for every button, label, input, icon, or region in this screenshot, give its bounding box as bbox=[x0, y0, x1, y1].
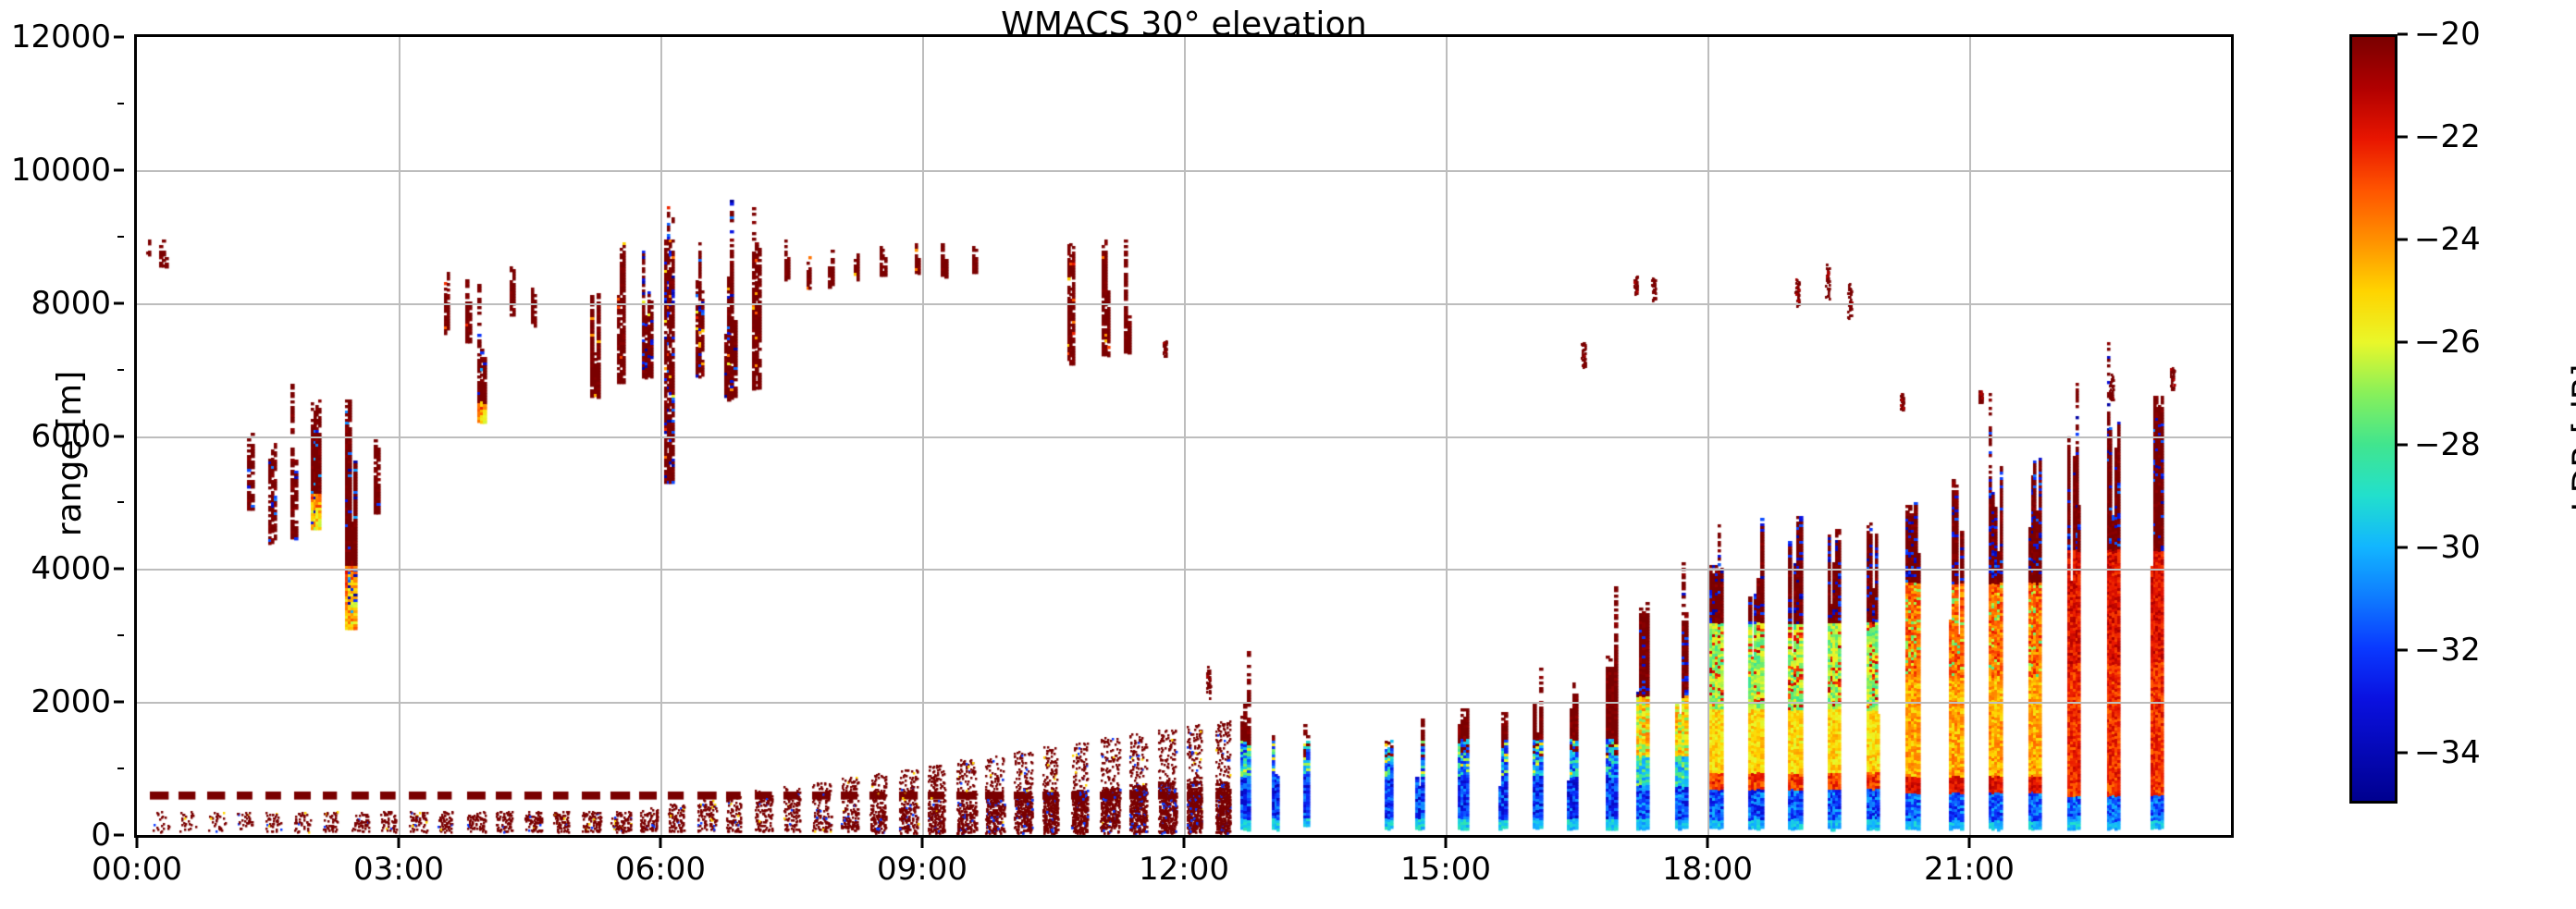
y-tick-minor bbox=[117, 768, 124, 769]
x-tick-label: 00:00 bbox=[92, 851, 182, 888]
colorbar-tick-mark bbox=[2397, 648, 2408, 651]
y-tick-mark bbox=[114, 301, 124, 304]
colorbar-tick-label: −30 bbox=[2414, 529, 2481, 566]
x-tick-label: 06:00 bbox=[615, 851, 706, 888]
colorbar-tick-label: −34 bbox=[2414, 734, 2481, 771]
y-axis-title: range [m] bbox=[51, 371, 89, 536]
colorbar-tick-mark bbox=[2397, 443, 2408, 446]
y-tick-label: 2000 bbox=[31, 683, 111, 720]
x-tick-label: 18:00 bbox=[1662, 851, 1753, 888]
heatmap-canvas bbox=[137, 37, 2231, 835]
colorbar-tick-mark bbox=[2397, 546, 2408, 548]
y-tick-label: 10000 bbox=[11, 152, 111, 189]
colorbar-gradient-fill bbox=[2352, 37, 2395, 801]
y-tick-label: 8000 bbox=[31, 285, 111, 322]
y-tick-mark bbox=[114, 36, 124, 39]
y-tick-mark bbox=[114, 701, 124, 704]
x-tick-mark bbox=[921, 838, 924, 848]
y-tick-minor bbox=[117, 103, 124, 104]
x-tick-label: 15:00 bbox=[1400, 851, 1491, 888]
colorbar-tick-label: −32 bbox=[2414, 632, 2481, 669]
colorbar-tick-mark bbox=[2397, 238, 2408, 240]
colorbar-title: LDR [dB] bbox=[2566, 364, 2576, 512]
x-axis-labels: 00:0003:0006:0009:0012:0015:0018:0021:00 bbox=[134, 838, 2234, 903]
y-tick-minor bbox=[117, 634, 124, 636]
y-tick-label: 12000 bbox=[11, 18, 111, 55]
colorbar-tick-label: −22 bbox=[2414, 118, 2481, 155]
colorbar-tick-label: −20 bbox=[2414, 16, 2481, 53]
colorbar-tick-mark bbox=[2397, 751, 2408, 754]
y-tick-mark bbox=[114, 568, 124, 571]
colorbar-tick-mark bbox=[2397, 340, 2408, 343]
colorbar-tick-mark bbox=[2397, 135, 2408, 138]
y-tick-label: 0 bbox=[91, 817, 111, 854]
y-tick-mark bbox=[114, 435, 124, 437]
colorbar-tick-label: −28 bbox=[2414, 426, 2481, 463]
x-tick-mark bbox=[1968, 838, 1971, 848]
colorbar-tick-label: −24 bbox=[2414, 221, 2481, 258]
x-tick-mark bbox=[659, 838, 662, 848]
x-tick-mark bbox=[1445, 838, 1448, 848]
x-tick-mark bbox=[136, 838, 139, 848]
colorbar-tick-label: −26 bbox=[2414, 324, 2481, 361]
x-tick-label: 12:00 bbox=[1139, 851, 1229, 888]
colorbar-tick-mark bbox=[2397, 33, 2408, 36]
y-tick-minor bbox=[117, 501, 124, 503]
y-tick-mark bbox=[114, 168, 124, 171]
x-tick-mark bbox=[398, 838, 401, 848]
figure-root: WMACS 30° elevation 02000400060008000100… bbox=[0, 0, 2576, 909]
x-tick-mark bbox=[1707, 838, 1709, 848]
y-tick-mark bbox=[114, 834, 124, 837]
y-tick-minor bbox=[117, 236, 124, 238]
x-tick-mark bbox=[1183, 838, 1186, 848]
y-tick-label: 4000 bbox=[31, 550, 111, 587]
colorbar-gradient bbox=[2349, 34, 2397, 804]
x-tick-label: 03:00 bbox=[353, 851, 444, 888]
colorbar[interactable]: LDR [dB] −20−22−24−26−28−30−32−34 bbox=[2349, 34, 2576, 838]
x-tick-label: 09:00 bbox=[877, 851, 968, 888]
x-tick-label: 21:00 bbox=[1924, 851, 2015, 888]
y-tick-minor bbox=[117, 369, 124, 371]
plot-area[interactable] bbox=[134, 34, 2234, 838]
